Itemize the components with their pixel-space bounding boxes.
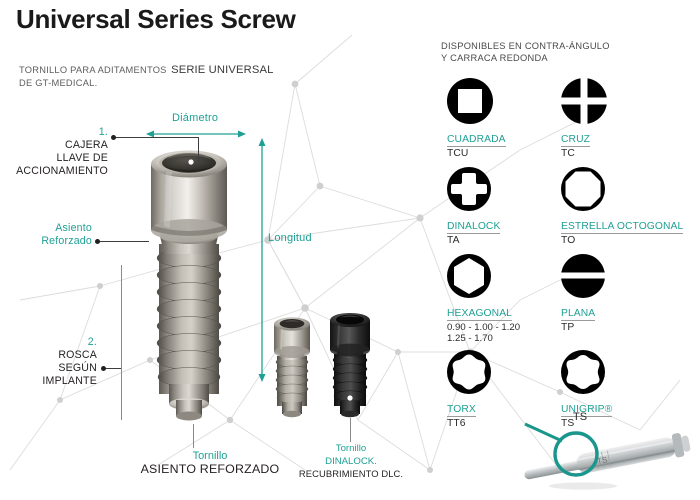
- connection-code-dinalock: TA: [447, 235, 500, 247]
- callout-1-line2: LLAVE DE: [0, 152, 108, 165]
- callout-1-line3: ACCIONAMIENTO: [0, 165, 108, 178]
- connection-name-cruz: CRUZ: [561, 134, 590, 147]
- driver-leader-line: [525, 424, 562, 441]
- dlc-screw-caption: Tornillo DINALOCK. RECUBRIMIENTO DLC.: [283, 443, 419, 481]
- callout-2-number: 2.: [0, 336, 97, 349]
- unigrip-socket-icon: [561, 350, 605, 394]
- dlc-caption-line1: Tornillo: [283, 443, 419, 456]
- square-socket-icon: [447, 78, 493, 124]
- callout-1-leader-v: [198, 137, 199, 162]
- connection-item-torx[interactable]: TORX TT6: [447, 350, 491, 430]
- main-screw-caption-leader: [193, 424, 194, 448]
- callout-seat-leader: [99, 241, 149, 242]
- torx-socket-icon: [447, 350, 491, 394]
- connections-heading: DISPONIBLES EN CONTRA-ÁNGULO Y CARRACA R…: [441, 41, 610, 64]
- cross-socket-icon: [561, 78, 607, 124]
- connection-item-dinalock[interactable]: DINALOCK TA: [447, 167, 500, 247]
- connection-code-estrella-octogonal: TO: [561, 235, 683, 247]
- length-arrow: [256, 138, 268, 382]
- connection-sizes-hexagonal-line1: 0.90 - 1.00 - 1.20: [447, 322, 520, 333]
- connection-code-cuadrada: TCU: [447, 148, 506, 160]
- intro-line1-small: TORNILLO PARA ADITAMENTOS: [19, 65, 167, 75]
- connection-item-cuadrada[interactable]: CUADRADA TCU: [447, 78, 506, 160]
- connection-name-hexagonal: HEXAGONAL: [447, 308, 512, 321]
- callout-seat-dot: [95, 239, 100, 244]
- dlc-caption-line3: RECUBRIMIENTO DLC.: [283, 468, 419, 481]
- driver-ts-label: TS: [573, 411, 587, 423]
- callout-1-number: 1.: [0, 126, 108, 139]
- connection-code-torx: TT6: [447, 418, 491, 430]
- infographic-stage: Universal Series Screw TORNILLO PARA ADI…: [0, 0, 700, 500]
- intro-text: TORNILLO PARA ADITAMENTOS SERIE UNIVERSA…: [19, 63, 273, 89]
- connection-name-cuadrada: CUADRADA: [447, 134, 506, 147]
- callout-2-dot: [101, 366, 106, 371]
- callout-2-leader-h: [105, 368, 121, 369]
- intro-line1-big: SERIE UNIVERSAL: [171, 64, 273, 76]
- diameter-arrow: [146, 128, 246, 140]
- connection-item-plana[interactable]: PLANA TP: [561, 254, 605, 334]
- callout-seat: Asiento Reforzado: [0, 222, 92, 248]
- main-screw-illustration: [136, 132, 242, 422]
- callout-1-line1: CAJERA: [0, 139, 108, 152]
- callout-1-leader-h: [115, 137, 198, 138]
- connection-name-torx: TORX: [447, 404, 476, 417]
- dinalock-socket-icon: [447, 167, 491, 211]
- connection-name-estrella-octogonal: ESTRELLA OCTOGONAL: [561, 221, 683, 234]
- callout-1-dot: [111, 135, 116, 140]
- connection-code-cruz: TC: [561, 148, 607, 160]
- page-title: Universal Series Screw: [16, 4, 296, 35]
- callout-2: 2. ROSCA SEGÚN IMPLANTE: [0, 336, 97, 388]
- length-label: Longitud: [268, 232, 312, 244]
- connection-item-estrella-octogonal[interactable]: ESTRELLA OCTOGONAL TO: [561, 167, 683, 247]
- driver-tool-illustration: TS: [505, 412, 700, 498]
- connections-heading-line2: Y CARRACA REDONDA: [441, 53, 610, 65]
- connections-heading-line1: DISPONIBLES EN CONTRA-ÁNGULO: [441, 41, 610, 53]
- callout-2-line1: ROSCA: [0, 349, 97, 362]
- octagon-star-socket-icon: [561, 167, 605, 211]
- callout-2-line2: SEGÚN: [0, 362, 97, 375]
- callout-2-line3: IMPLANTE: [0, 375, 97, 388]
- callout-2-bracket: [121, 265, 122, 420]
- connection-name-dinalock: DINALOCK: [447, 221, 500, 234]
- callout-1: 1. CAJERA LLAVE DE ACCIONAMIENTO: [0, 126, 108, 178]
- dlc-caption-line2: DINALOCK.: [283, 456, 419, 469]
- connection-item-cruz[interactable]: CRUZ TC: [561, 78, 607, 160]
- dinalock-dlc-screw-illustration: [322, 306, 378, 422]
- callout-seat-line1: Asiento: [0, 222, 92, 235]
- connection-sizes-hexagonal-line2: 1.25 - 1.70: [447, 333, 520, 344]
- flat-slot-socket-icon: [561, 254, 605, 298]
- diameter-label: Diámetro: [172, 112, 218, 124]
- callout-seat-line2: Reforzado: [0, 235, 92, 248]
- connection-name-plana: PLANA: [561, 308, 595, 321]
- intro-line2: DE GT-MEDICAL.: [19, 77, 273, 90]
- dlc-caption-leader: [350, 418, 351, 442]
- connection-code-plana: TP: [561, 322, 605, 334]
- connection-item-hexagonal[interactable]: HEXAGONAL 0.90 - 1.00 - 1.20 1.25 - 1.70: [447, 254, 520, 344]
- hexagon-socket-icon: [447, 254, 491, 298]
- small-screw-illustration: [266, 310, 318, 420]
